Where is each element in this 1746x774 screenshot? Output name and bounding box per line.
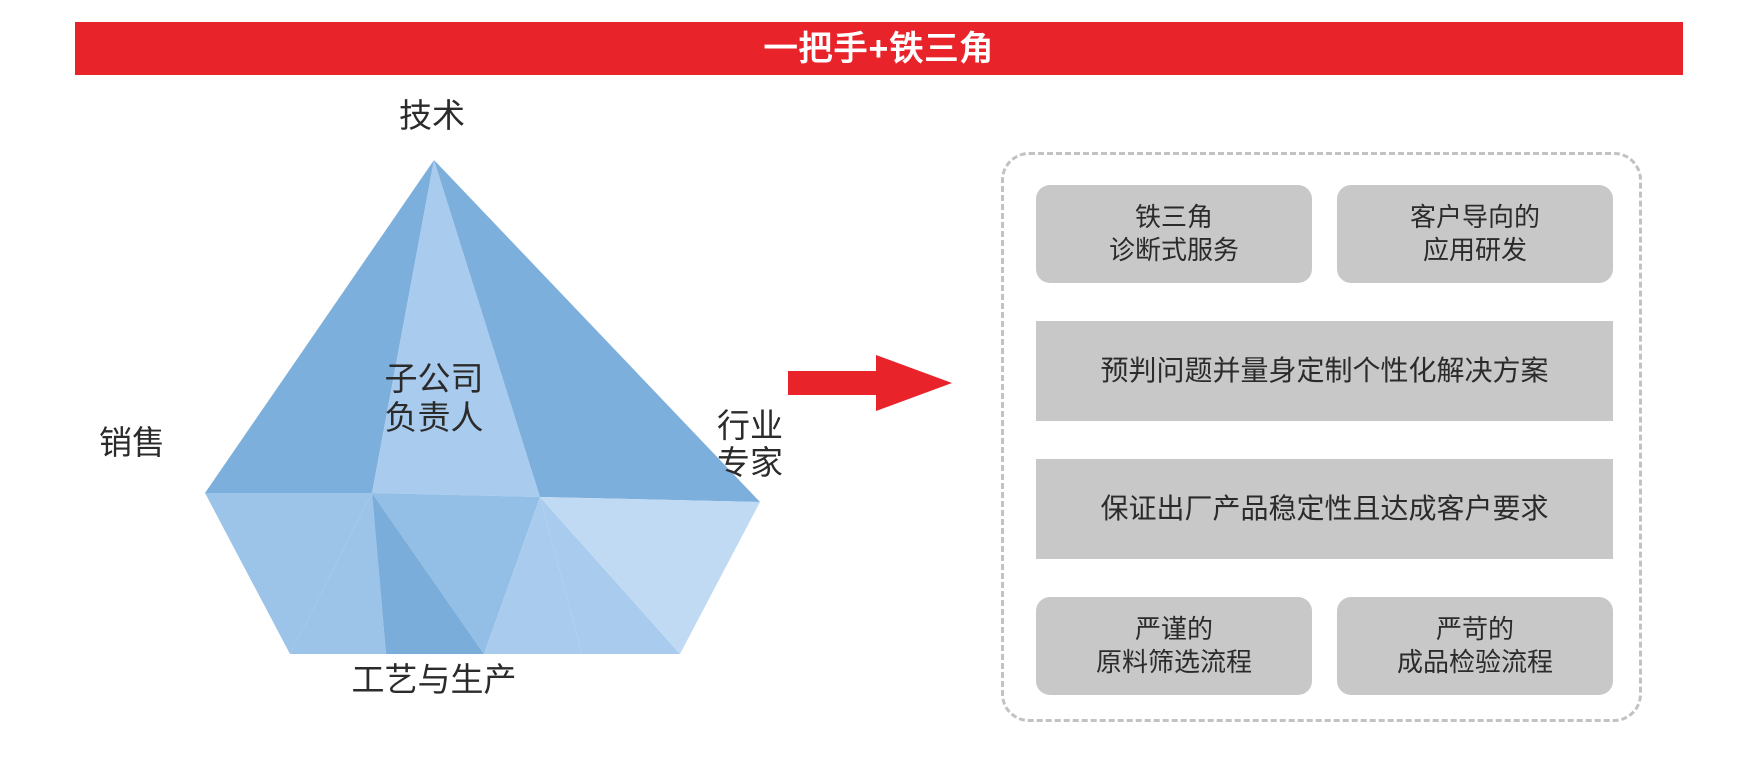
capability-row-3: 保证出厂产品稳定性且达成客户要求 [1036, 459, 1613, 559]
red-arrow [786, 350, 956, 416]
capability-box[interactable]: 保证出厂产品稳定性且达成客户要求 [1036, 459, 1613, 559]
capability-box[interactable]: 严谨的 原料筛选流程 [1036, 597, 1312, 695]
diamond-label-right: 行业 专家 [717, 408, 783, 482]
diamond-center-label: 子公司 负责人 [385, 360, 484, 438]
capability-row-2: 预判问题并量身定制个性化解决方案 [1036, 321, 1613, 421]
page-title: 一把手+铁三角 [764, 32, 995, 66]
capability-box[interactable]: 预判问题并量身定制个性化解决方案 [1036, 321, 1613, 421]
capability-box[interactable]: 严苛的 成品检验流程 [1337, 597, 1613, 695]
title-banner: 一把手+铁三角 [75, 22, 1683, 75]
arrow-shape [788, 355, 952, 411]
diamond-diagram-panel: 技术 销售 行业 专家 工艺与生产 子公司 负责人 [0, 90, 900, 730]
capabilities-container: 铁三角 诊断式服务 客户导向的 应用研发 预判问题并量身定制个性化解决方案 保证… [1001, 152, 1642, 722]
right-arrow-icon [786, 350, 956, 416]
diamond-label-top: 技术 [399, 98, 465, 135]
diamond-label-bottom: 工艺与生产 [352, 662, 517, 699]
capability-box[interactable]: 客户导向的 应用研发 [1337, 185, 1613, 283]
capabilities-list: 铁三角 诊断式服务 客户导向的 应用研发 预判问题并量身定制个性化解决方案 保证… [1036, 185, 1613, 695]
capability-row-1: 铁三角 诊断式服务 客户导向的 应用研发 [1036, 185, 1613, 283]
capability-box[interactable]: 铁三角 诊断式服务 [1036, 185, 1312, 283]
capability-row-4: 严谨的 原料筛选流程 严苛的 成品检验流程 [1036, 597, 1613, 695]
diamond-label-left: 销售 [99, 425, 165, 462]
